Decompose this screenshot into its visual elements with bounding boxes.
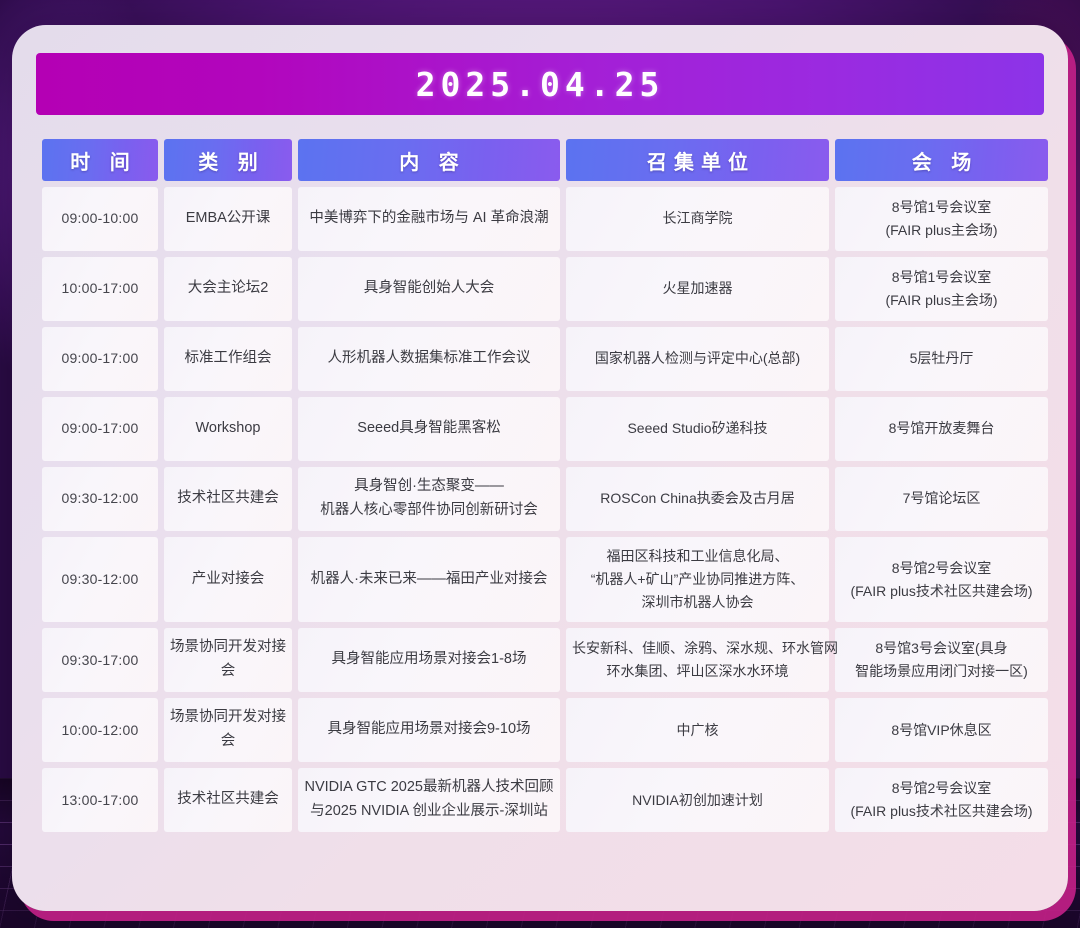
cell-venue-line: 8号馆VIP休息区	[841, 719, 1042, 742]
cell-content-line: 中美博弈下的金融市场与 AI 革命浪潮	[304, 207, 554, 231]
cell-content-line: 机器人核心零部件协同创新研讨会	[304, 499, 554, 523]
cell-organizer-lines: 长安新科、佳顺、涂鸦、深水规、环水管网环水集团、坪山区深水水环境	[572, 637, 823, 683]
cell-venue-lines: 5层牡丹厅	[841, 347, 1042, 370]
table-row: 09:30-12:00技术社区共建会具身智创·生态聚变——机器人核心零部件协同创…	[42, 467, 1048, 531]
table-row: 10:00-17:00大会主论坛2具身智能创始人大会火星加速器8号馆1号会议室(…	[42, 257, 1048, 321]
cell-content: 具身智创·生态聚变——机器人核心零部件协同创新研讨会	[298, 467, 560, 531]
cell-organizer-line: 火星加速器	[572, 277, 823, 300]
cell-venue-line: 8号馆2号会议室	[841, 557, 1042, 580]
cell-venue-lines: 8号馆VIP休息区	[841, 719, 1042, 742]
cell-venue-lines: 8号馆1号会议室(FAIR plus主会场)	[841, 196, 1042, 242]
cell-organizer: 长江商学院	[566, 187, 829, 251]
cell-venue: 8号馆1号会议室(FAIR plus主会场)	[835, 257, 1048, 321]
cell-content-lines: Seeed具身智能黑客松	[304, 417, 554, 441]
table-header: 时 间 类 别 内 容 召集单位 会 场	[42, 139, 1048, 181]
cell-venue-line: 8号馆1号会议室	[841, 196, 1042, 219]
cell-category: Workshop	[164, 397, 292, 461]
date-banner: 2025.04.25	[36, 53, 1044, 115]
cell-time: 09:00-17:00	[42, 397, 158, 461]
cell-organizer-lines: 火星加速器	[572, 277, 823, 300]
cell-content-line: 机器人·未来已来——福田产业对接会	[304, 568, 554, 592]
column-header-venue: 会 场	[835, 139, 1048, 181]
table-row: 09:00-10:00EMBA公开课中美博弈下的金融市场与 AI 革命浪潮长江商…	[42, 187, 1048, 251]
column-header-category: 类 别	[164, 139, 292, 181]
cell-venue-line: (FAIR plus技术社区共建会场)	[841, 580, 1042, 603]
cell-organizer-lines: Seeed Studio矽递科技	[572, 417, 823, 440]
cell-category: 大会主论坛2	[164, 257, 292, 321]
cell-venue-line: 7号馆论坛区	[841, 487, 1042, 510]
cell-organizer-line: 环水集团、坪山区深水水环境	[572, 660, 823, 683]
cell-organizer-line: 福田区科技和工业信息化局、	[572, 545, 823, 568]
cell-organizer-lines: 长江商学院	[572, 207, 823, 230]
cell-category: 标准工作组会	[164, 327, 292, 391]
cell-venue: 7号馆论坛区	[835, 467, 1048, 531]
cell-venue-lines: 8号馆3号会议室(具身智能场景应用闭门对接一区)	[841, 637, 1042, 683]
cell-time: 10:00-12:00	[42, 698, 158, 762]
schedule-table: 时 间 类 别 内 容 召集单位 会 场 09:00-10:00EMBA公开课中…	[36, 133, 1054, 838]
cell-content-lines: 具身智创·生态聚变——机器人核心零部件协同创新研讨会	[304, 475, 554, 523]
cell-content: NVIDIA GTC 2025最新机器人技术回顾与2025 NVIDIA 创业企…	[298, 768, 560, 832]
cell-content: 人形机器人数据集标准工作会议	[298, 327, 560, 391]
cell-venue: 8号馆2号会议室(FAIR plus技术社区共建会场)	[835, 768, 1048, 832]
cell-content: 具身智能应用场景对接会1-8场	[298, 628, 560, 692]
cell-venue: 5层牡丹厅	[835, 327, 1048, 391]
cell-venue: 8号馆开放麦舞台	[835, 397, 1048, 461]
cell-content-line: 具身智能应用场景对接会1-8场	[304, 648, 554, 672]
table-row: 09:30-12:00产业对接会机器人·未来已来——福田产业对接会福田区科技和工…	[42, 537, 1048, 622]
cell-venue-line: (FAIR plus主会场)	[841, 219, 1042, 242]
cell-time: 09:00-17:00	[42, 327, 158, 391]
cell-organizer: 中广核	[566, 698, 829, 762]
cell-content: 具身智能应用场景对接会9-10场	[298, 698, 560, 762]
column-header-organizer: 召集单位	[566, 139, 829, 181]
cell-organizer: 火星加速器	[566, 257, 829, 321]
cell-content: 中美博弈下的金融市场与 AI 革命浪潮	[298, 187, 560, 251]
table-row: 09:00-17:00标准工作组会人形机器人数据集标准工作会议国家机器人检测与评…	[42, 327, 1048, 391]
cell-venue-lines: 7号馆论坛区	[841, 487, 1042, 510]
cell-venue: 8号馆VIP休息区	[835, 698, 1048, 762]
cell-category: 技术社区共建会	[164, 768, 292, 832]
cell-organizer-lines: NVIDIA初创加速计划	[572, 789, 823, 812]
cell-organizer-line: “机器人+矿山”产业协同推进方阵、	[572, 568, 823, 591]
cell-content-line: 与2025 NVIDIA 创业企业展示-深圳站	[304, 800, 554, 824]
column-header-content: 内 容	[298, 139, 560, 181]
cell-content-line: 具身智能应用场景对接会9-10场	[304, 718, 554, 742]
cell-content-lines: 具身智能应用场景对接会1-8场	[304, 648, 554, 672]
cell-venue: 8号馆3号会议室(具身智能场景应用闭门对接一区)	[835, 628, 1048, 692]
cell-venue-line: 8号馆1号会议室	[841, 266, 1042, 289]
cell-organizer-line: 长江商学院	[572, 207, 823, 230]
cell-content-line: 人形机器人数据集标准工作会议	[304, 347, 554, 371]
cell-venue-line: 5层牡丹厅	[841, 347, 1042, 370]
cell-time: 13:00-17:00	[42, 768, 158, 832]
cell-content-lines: 具身智能创始人大会	[304, 277, 554, 301]
cell-content-lines: 人形机器人数据集标准工作会议	[304, 347, 554, 371]
cell-category: 技术社区共建会	[164, 467, 292, 531]
cell-content-line: 具身智能创始人大会	[304, 277, 554, 301]
cell-venue-line: 智能场景应用闭门对接一区)	[841, 660, 1042, 683]
table-body: 09:00-10:00EMBA公开课中美博弈下的金融市场与 AI 革命浪潮长江商…	[42, 187, 1048, 832]
cell-content-lines: 具身智能应用场景对接会9-10场	[304, 718, 554, 742]
cell-content-line: Seeed具身智能黑客松	[304, 417, 554, 441]
cell-organizer-line: 国家机器人检测与评定中心(总部)	[572, 347, 823, 370]
table-row: 09:30-17:00场景协同开发对接会具身智能应用场景对接会1-8场长安新科、…	[42, 628, 1048, 692]
cell-content-lines: NVIDIA GTC 2025最新机器人技术回顾与2025 NVIDIA 创业企…	[304, 776, 554, 824]
cell-content: Seeed具身智能黑客松	[298, 397, 560, 461]
cell-category: 产业对接会	[164, 537, 292, 622]
cell-time: 09:30-12:00	[42, 537, 158, 622]
cell-organizer: Seeed Studio矽递科技	[566, 397, 829, 461]
table-row: 13:00-17:00技术社区共建会NVIDIA GTC 2025最新机器人技术…	[42, 768, 1048, 832]
cell-content-line: NVIDIA GTC 2025最新机器人技术回顾	[304, 776, 554, 800]
cell-time: 09:30-17:00	[42, 628, 158, 692]
cell-venue-lines: 8号馆1号会议室(FAIR plus主会场)	[841, 266, 1042, 312]
cell-time: 09:30-12:00	[42, 467, 158, 531]
cell-venue-line: 8号馆开放麦舞台	[841, 417, 1042, 440]
schedule-card: 2025.04.25 时 间 类 别 内 容 召集单位 会 场 09:00-10…	[12, 25, 1068, 911]
cell-organizer: 福田区科技和工业信息化局、“机器人+矿山”产业协同推进方阵、深圳市机器人协会	[566, 537, 829, 622]
cell-venue-lines: 8号馆开放麦舞台	[841, 417, 1042, 440]
cell-organizer-line: 长安新科、佳顺、涂鸦、深水规、环水管网	[572, 637, 823, 660]
cell-venue: 8号馆1号会议室(FAIR plus主会场)	[835, 187, 1048, 251]
cell-organizer-line: NVIDIA初创加速计划	[572, 789, 823, 812]
cell-organizer: ROSCon China执委会及古月居	[566, 467, 829, 531]
cell-organizer: NVIDIA初创加速计划	[566, 768, 829, 832]
cell-content-lines: 机器人·未来已来——福田产业对接会	[304, 568, 554, 592]
cell-content: 机器人·未来已来——福田产业对接会	[298, 537, 560, 622]
cell-organizer-line: 中广核	[572, 719, 823, 742]
cell-organizer-line: ROSCon China执委会及古月居	[572, 487, 823, 510]
cell-category: 场景协同开发对接会	[164, 628, 292, 692]
cell-organizer-line: Seeed Studio矽递科技	[572, 417, 823, 440]
cell-venue-line: 8号馆3号会议室(具身	[841, 637, 1042, 660]
table-row: 09:00-17:00WorkshopSeeed具身智能黑客松Seeed Stu…	[42, 397, 1048, 461]
cell-organizer-line: 深圳市机器人协会	[572, 591, 823, 614]
cell-content: 具身智能创始人大会	[298, 257, 560, 321]
banner-date-text: 2025.04.25	[416, 65, 665, 104]
cell-organizer-lines: ROSCon China执委会及古月居	[572, 487, 823, 510]
cell-venue-line: 8号馆2号会议室	[841, 777, 1042, 800]
cell-venue-lines: 8号馆2号会议室(FAIR plus技术社区共建会场)	[841, 777, 1042, 823]
table-row: 10:00-12:00场景协同开发对接会具身智能应用场景对接会9-10场中广核8…	[42, 698, 1048, 762]
cell-category: EMBA公开课	[164, 187, 292, 251]
cell-organizer: 长安新科、佳顺、涂鸦、深水规、环水管网环水集团、坪山区深水水环境	[566, 628, 829, 692]
column-header-time: 时 间	[42, 139, 158, 181]
cell-time: 10:00-17:00	[42, 257, 158, 321]
table-header-row: 时 间 类 别 内 容 召集单位 会 场	[42, 139, 1048, 181]
cell-venue-line: (FAIR plus主会场)	[841, 289, 1042, 312]
cell-organizer-lines: 福田区科技和工业信息化局、“机器人+矿山”产业协同推进方阵、深圳市机器人协会	[572, 545, 823, 614]
cell-category: 场景协同开发对接会	[164, 698, 292, 762]
cell-time: 09:00-10:00	[42, 187, 158, 251]
cell-content-line: 具身智创·生态聚变——	[304, 475, 554, 499]
cell-organizer-lines: 中广核	[572, 719, 823, 742]
cell-venue: 8号馆2号会议室(FAIR plus技术社区共建会场)	[835, 537, 1048, 622]
cell-venue-lines: 8号馆2号会议室(FAIR plus技术社区共建会场)	[841, 557, 1042, 603]
cell-organizer-lines: 国家机器人检测与评定中心(总部)	[572, 347, 823, 370]
cell-organizer: 国家机器人检测与评定中心(总部)	[566, 327, 829, 391]
cell-venue-line: (FAIR plus技术社区共建会场)	[841, 800, 1042, 823]
cell-content-lines: 中美博弈下的金融市场与 AI 革命浪潮	[304, 207, 554, 231]
